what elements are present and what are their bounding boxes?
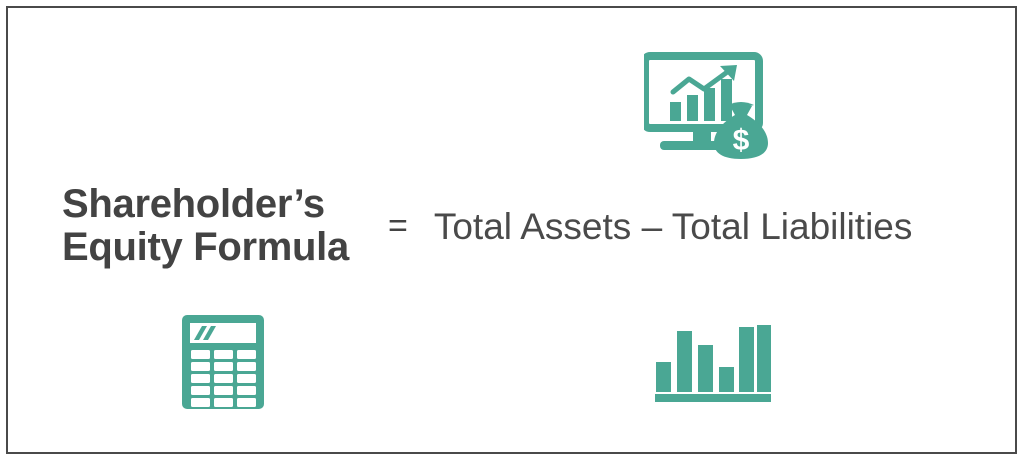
bar-chart-icon (654, 324, 772, 404)
calculator-keypad (191, 350, 256, 407)
money-bag-currency-symbol: $ (733, 124, 750, 157)
bar-4 (719, 367, 734, 392)
equals-sign: = (388, 209, 408, 243)
calculator-icon (181, 314, 265, 410)
infographic-canvas: Shareholder’s Equity Formula = Total Ass… (0, 0, 1024, 461)
formula-block: Shareholder’s Equity Formula = Total Ass… (62, 178, 982, 274)
bar-2 (677, 331, 692, 392)
bar-5 (739, 327, 754, 392)
formula-title: Shareholder’s Equity Formula (62, 183, 384, 269)
formula-expression: Total Assets – Total Liabilities (434, 208, 913, 245)
monitor-neck (693, 128, 711, 141)
bar-3 (698, 345, 713, 392)
screen-bar-4 (721, 79, 732, 121)
chart-baseline (655, 394, 771, 402)
bar-1 (656, 362, 671, 392)
monitor-growth-chart-money-bag-icon: $ (644, 52, 782, 160)
screen-bar-2 (687, 95, 698, 121)
screen-bar-1 (670, 102, 681, 121)
screen-bar-3 (704, 88, 715, 121)
bar-6 (757, 325, 771, 392)
